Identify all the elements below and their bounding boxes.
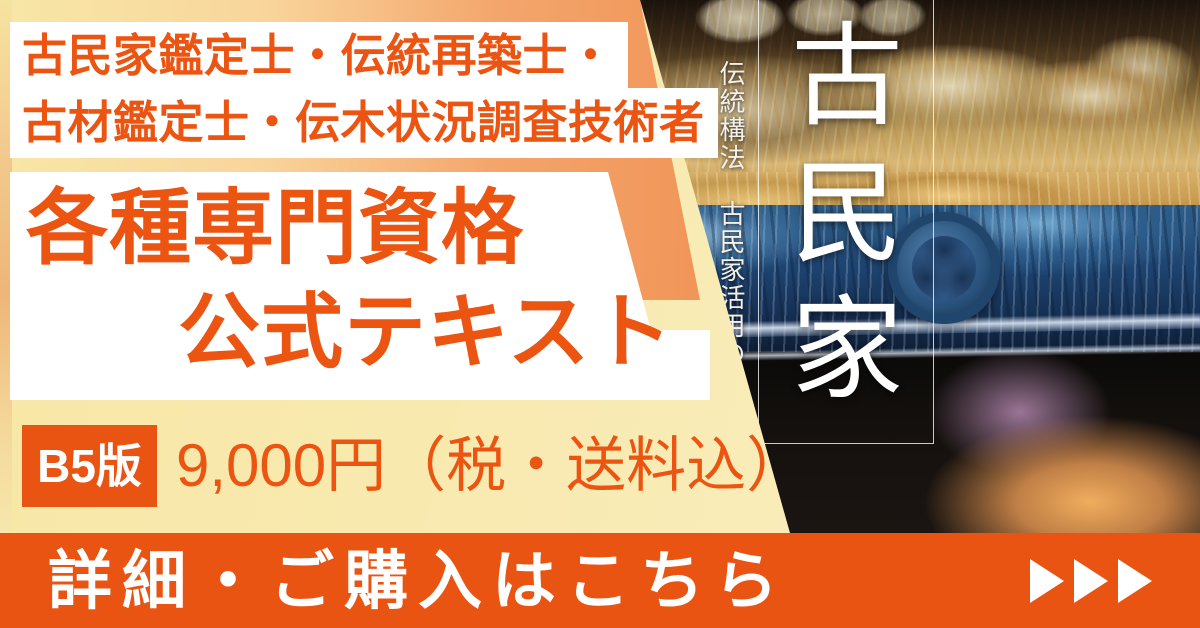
cover-title-char-2: 民 <box>772 147 922 284</box>
triangle-right-icon <box>1118 559 1152 603</box>
cover-title-char-1: 古 <box>772 10 922 147</box>
triangle-right-icon <box>1074 559 1108 603</box>
title-line-1: 各種専門資格 <box>26 188 524 270</box>
cta-label: 詳細・ご購入はこちら <box>48 545 788 617</box>
cta-bar[interactable]: 詳細・ご購入はこちら <box>0 533 1200 628</box>
cta-arrows <box>1030 559 1152 603</box>
triangle-right-icon <box>1030 559 1064 603</box>
title-line-2: 公式テキスト <box>178 292 674 374</box>
cover-title-char-3: 家 <box>772 283 922 420</box>
price-row: B5版 9,000円（税・送料込） <box>0 425 720 511</box>
price-label: 9,000円（税・送料込） <box>176 431 806 501</box>
format-badge: B5版 <box>22 425 157 507</box>
cover-title: 古 民 家 <box>772 10 922 420</box>
headline-line-1: 古民家鑑定士・伝統再築士・ <box>22 33 614 78</box>
promo-banner[interactable]: 古 民 家 伝統構法 古民家活用のための調査と再生の 古民家鑑定士・伝統再築士・… <box>0 0 1200 628</box>
headline-line-2: 古材鑑定士・伝木状況調査技術者 <box>22 100 705 145</box>
